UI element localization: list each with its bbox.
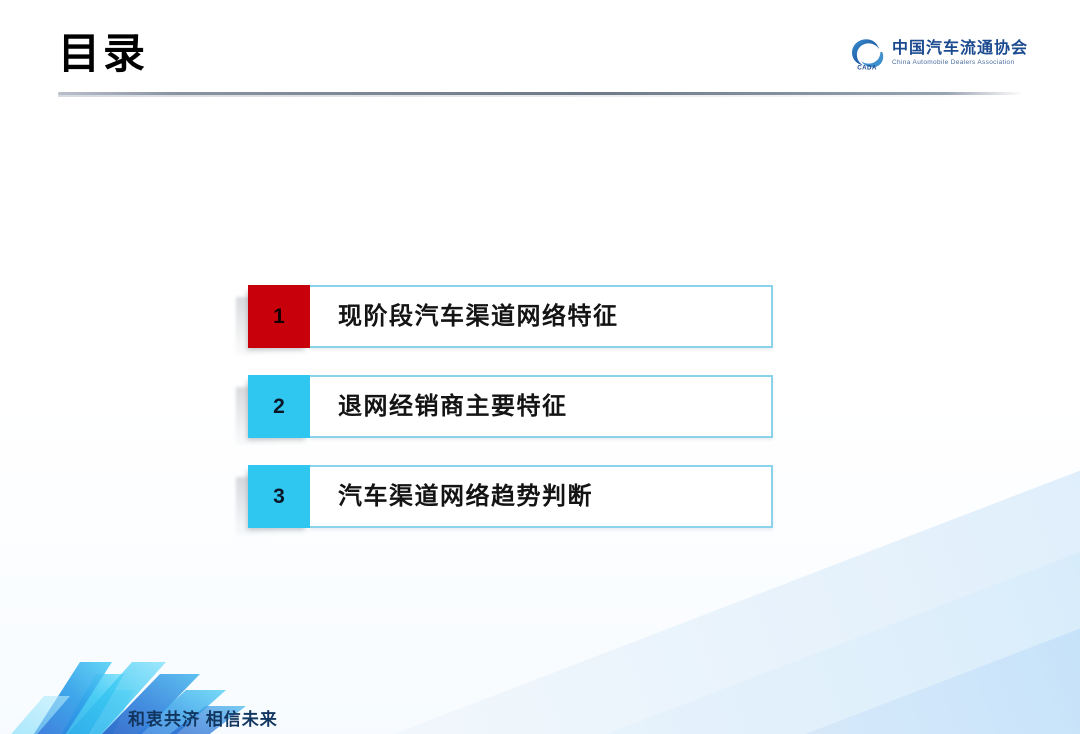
svg-text:CADA: CADA [857,65,877,72]
agenda-list: 1 现阶段汽车渠道网络特征 2 退网经销商主要特征 3 汽车渠道网络趋势判断 [248,285,773,528]
slide-root: 目录 CADA [0,0,1080,734]
agenda-item-body-3[interactable]: 汽车渠道网络趋势判断 [310,465,773,528]
agenda-item-label-2: 退网经销商主要特征 [338,395,568,419]
logo-text-block: 中国汽车流通协会 China Automobile Dealers Associ… [892,41,1028,67]
logo-name-en: China Automobile Dealers Association [892,60,1028,67]
cada-swoosh-icon: CADA [849,36,885,72]
agenda-item-label-1: 现阶段汽车渠道网络特征 [338,305,619,329]
slide-header: 目录 CADA [0,0,1080,110]
footer-slogan: 和衷共济 相信未来 [128,705,278,730]
agenda-item-body-2[interactable]: 退网经销商主要特征 [310,375,773,438]
organization-logo: CADA 中国汽车流通协会 China Automobile Dealers A… [849,36,1028,72]
agenda-item-3[interactable]: 3 汽车渠道网络趋势判断 [248,465,773,528]
slide-footer: 和衷共济 相信未来 [0,644,420,734]
page-title: 目录 [58,33,148,75]
agenda-item-2[interactable]: 2 退网经销商主要特征 [248,375,773,438]
agenda-number-badge-1: 1 [248,285,310,348]
agenda-number-badge-2: 2 [248,375,310,438]
logo-name-cn: 中国汽车流通协会 [892,41,1028,58]
agenda-number-badge-3: 3 [248,465,310,528]
agenda-item-body-1[interactable]: 现阶段汽车渠道网络特征 [310,285,773,348]
agenda-item-label-3: 汽车渠道网络趋势判断 [338,485,593,509]
agenda-item-1[interactable]: 1 现阶段汽车渠道网络特征 [248,285,773,348]
background-band-4 [395,508,1080,734]
title-divider-shadow [58,95,1023,97]
